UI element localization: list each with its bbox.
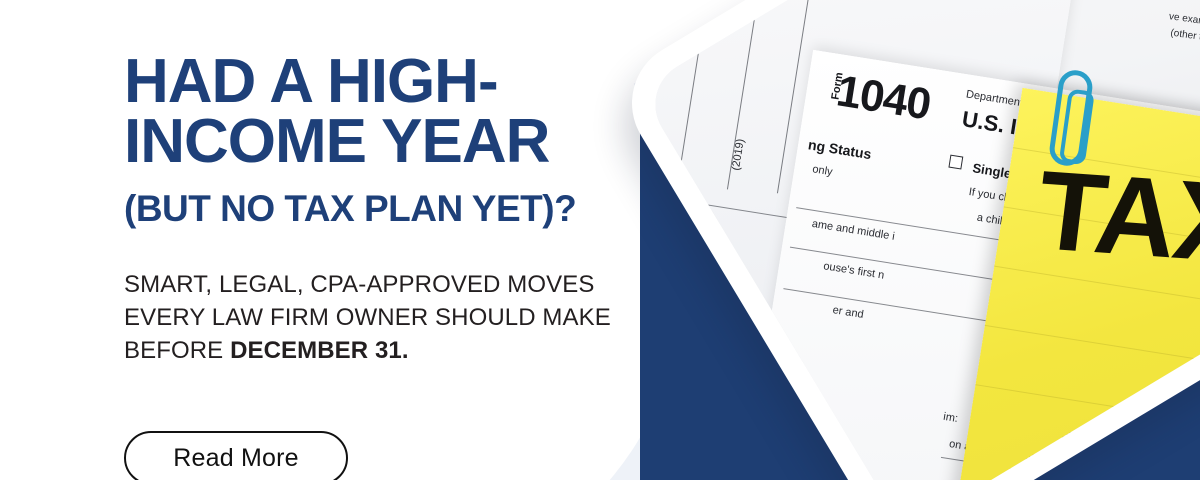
supporting-copy-line-3-prefix: BEFORE: [124, 337, 230, 364]
headline-line-1: HAD A HIGH-: [124, 47, 498, 116]
sticky-note-line: [985, 325, 1200, 400]
supporting-copy-line-1: SMART, LEGAL, CPA-APPROVED MOVES: [124, 271, 594, 298]
banner-content: HAD A HIGH- INCOME YEAR (BUT NO TAX PLAN…: [0, 0, 700, 480]
form-number: 1040: [833, 66, 934, 130]
form-year-label: (2019): [730, 138, 747, 171]
supporting-copy-deadline: DECEMBER 31.: [230, 337, 409, 364]
form-line-text: er and: [832, 304, 865, 321]
headline-line-2: INCOME YEAR: [124, 107, 549, 176]
form-line-text: only: [812, 163, 834, 178]
form-checkbox-label: Single: [972, 160, 1013, 181]
form-line-text: im:: [942, 411, 958, 425]
form-filing-status: ng Status: [807, 136, 872, 162]
supporting-copy: SMART, LEGAL, CPA-APPROVED MOVES EVERY L…: [124, 268, 744, 367]
form-checkbox: [948, 155, 963, 170]
form-line-text: (other than taxpayer) is based on all in…: [1170, 28, 1200, 63]
read-more-button[interactable]: Read More: [124, 431, 348, 480]
page-title: HAD A HIGH- INCOME YEAR: [124, 52, 684, 172]
page-subtitle: (BUT NO TAX PLAN YET)?: [124, 190, 724, 227]
sticky-note-text: TAX: [1030, 145, 1200, 288]
supporting-copy-line-2: EVERY LAW FIRM OWNER SHOULD MAKE: [124, 304, 611, 331]
promo-banner: Add lines 18a through 1 Add lines 17 and…: [0, 0, 1200, 480]
form-line-text: ouse's first n: [823, 260, 886, 281]
